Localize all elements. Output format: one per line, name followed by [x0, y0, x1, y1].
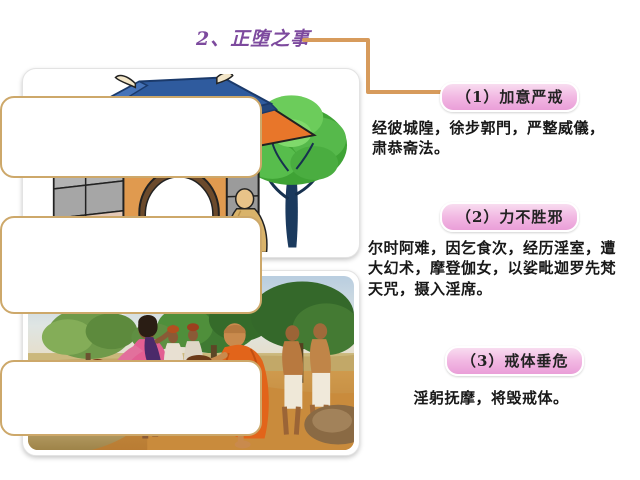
slide-canvas: 2、正堕之事 [0, 0, 640, 480]
callout-3-box [0, 360, 262, 436]
callout-2-text: 尔时阿难，因乞食次，经历淫室，遭大幻术，摩登伽女，以娑毗迦罗先梵天咒，摄入淫席。 [368, 238, 618, 299]
callout-3-text: 淫躬抚摩，将毁戒体。 [372, 388, 610, 408]
callout-3-heading: （3）戒体垂危 [445, 346, 584, 376]
callout-1-text: 经彼城隍，徐步郭門，严整威儀，肃恭斋法。 [372, 118, 610, 159]
page-title: 2、正堕之事 [196, 24, 310, 51]
callout-1-heading: （1）加意严戒 [440, 82, 579, 112]
callout-1-box [0, 96, 262, 178]
callout-2-heading: （2）力不胜邪 [440, 202, 579, 232]
callout-2-box [0, 216, 262, 314]
